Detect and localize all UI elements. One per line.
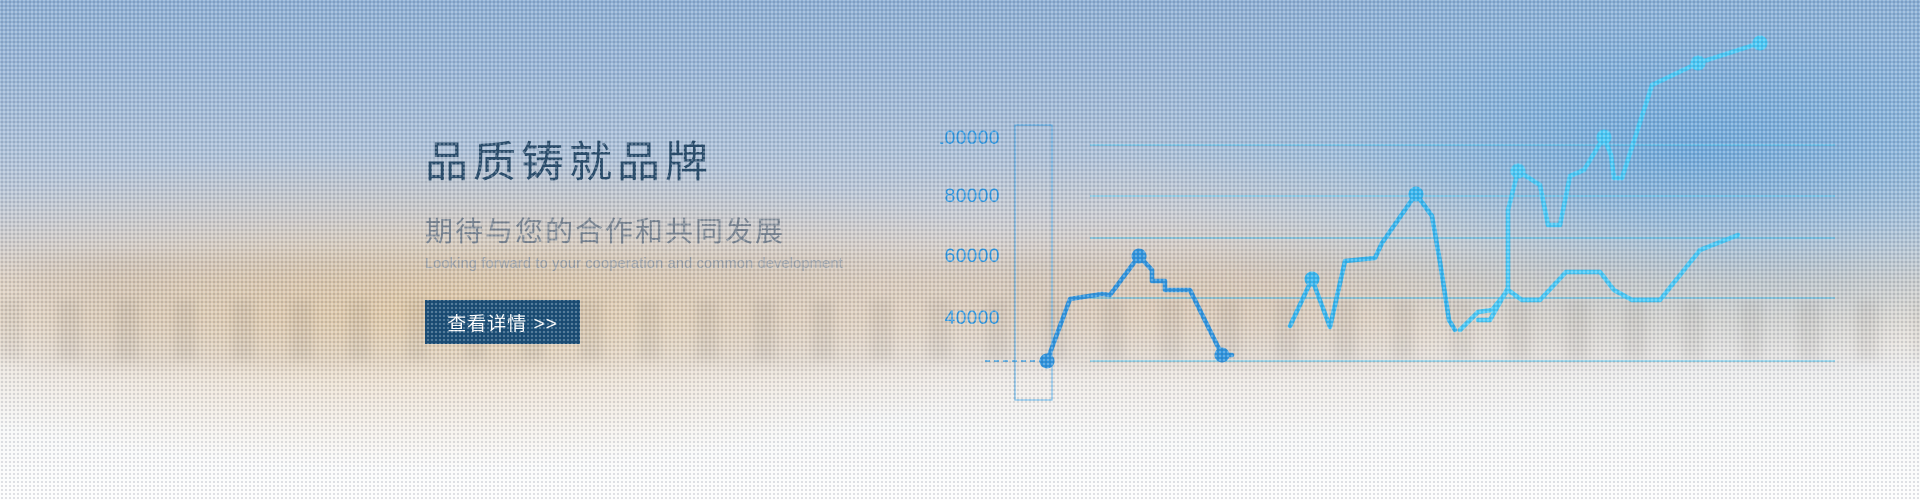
view-details-button[interactable]: 查看详情 >> [425, 300, 580, 344]
line-chart: 100000800006000040000 [940, 0, 1920, 500]
chart-data-point[interactable] [1132, 249, 1147, 264]
chart-data-point[interactable] [1305, 272, 1320, 287]
chart-data-point[interactable] [1753, 36, 1768, 51]
chart-data-point[interactable] [1409, 187, 1424, 202]
subtitle-chinese: 期待与您的合作和共同发展 [425, 210, 985, 250]
chart-svg: 100000800006000040000 [940, 0, 1920, 500]
chart-data-point[interactable] [1215, 348, 1230, 363]
chart-data-point[interactable] [1597, 130, 1612, 145]
chart-series-line [1460, 235, 1738, 330]
page-title: 品质铸就品牌 [425, 140, 985, 186]
y-axis-tick-label: 80000 [945, 186, 1000, 207]
y-axis-tick-label: 60000 [945, 246, 1000, 267]
y-axis-tick-label: 100000 [940, 128, 1000, 149]
chart-data-point[interactable] [1691, 56, 1706, 71]
hero-copy: 品质铸就品牌 期待与您的合作和共同发展 Looking forward to y… [425, 140, 985, 344]
chart-data-point[interactable] [1511, 164, 1526, 179]
chart-data-point[interactable] [1040, 354, 1055, 369]
chart-series-line [1290, 194, 1455, 330]
subtitle-english: Looking forward to your cooperation and … [425, 256, 985, 272]
hero-banner: 品质铸就品牌 期待与您的合作和共同发展 Looking forward to y… [0, 0, 1920, 500]
y-axis-tick-label: 40000 [945, 308, 1000, 329]
chart-series-line [1478, 43, 1760, 320]
chart-series-line [1047, 256, 1232, 361]
